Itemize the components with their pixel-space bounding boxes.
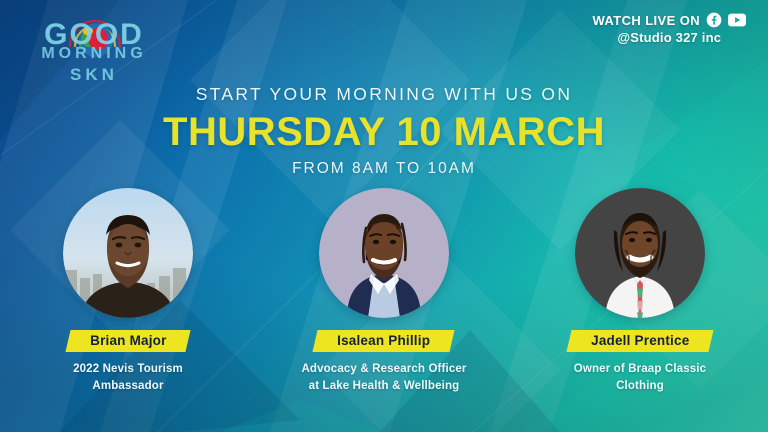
portrait-brian-major [63,188,193,318]
watch-live-label: WATCH LIVE ON [592,13,700,28]
headline-block: START YOUR MORNING WITH US ON THURSDAY 1… [0,84,768,178]
guest-role-line2: Clothing [517,378,763,395]
logo-text-morning: MORNING [24,46,164,62]
guest-role: Owner of Braap Classic Clothing [517,361,763,394]
guest-card: Jadell Prentice Owner of Braap Classic C… [517,188,763,394]
guest-role: Advocacy & Research Officer at Lake Heal… [261,361,507,394]
guest-name-badge: Jadell Prentice [517,330,763,352]
watch-live-row: WATCH LIVE ON [592,12,746,28]
good-morning-skn-logo: GOOD MORNING SKN [24,6,164,90]
headline-time: FROM 8AM TO 10AM [0,160,768,178]
guest-lineup: Brian Major 2022 Nevis Tourism Ambassado… [0,188,768,394]
headline-date: THURSDAY 10 MARCH [0,111,768,153]
guest-name-badge: Isalean Phillip [261,330,507,352]
portrait-jadell-prentice [575,188,705,318]
guest-role: 2022 Nevis Tourism Ambassador [5,361,251,394]
watch-live-handle[interactable]: @Studio 327 inc [592,30,746,45]
guest-name: Jadell Prentice [591,333,689,348]
portrait-isalean-phillip [319,188,449,318]
guest-name: Brian Major [90,333,166,348]
guest-role-line1: Owner of Braap Classic [517,361,763,378]
broadcast-promo-graphic: GOOD MORNING SKN WATCH LIVE ON @Studio 3… [0,0,768,432]
guest-name: Isalean Phillip [338,333,431,348]
guest-card: Brian Major 2022 Nevis Tourism Ambassado… [5,188,251,394]
facebook-icon[interactable] [706,12,722,28]
guest-role-line2: Ambassador [5,378,251,395]
youtube-icon[interactable] [728,13,746,27]
guest-role-line2: at Lake Health & Wellbeing [261,378,507,395]
guest-name-badge: Brian Major [5,330,251,352]
logo-text-skn: SKN [24,66,164,83]
watch-live-block: WATCH LIVE ON @Studio 327 inc [592,12,746,45]
guest-role-line1: Advocacy & Research Officer [261,361,507,378]
headline-kicker: START YOUR MORNING WITH US ON [0,84,768,105]
guest-role-line1: 2022 Nevis Tourism [5,361,251,378]
guest-card: Isalean Phillip Advocacy & Research Offi… [261,188,507,394]
